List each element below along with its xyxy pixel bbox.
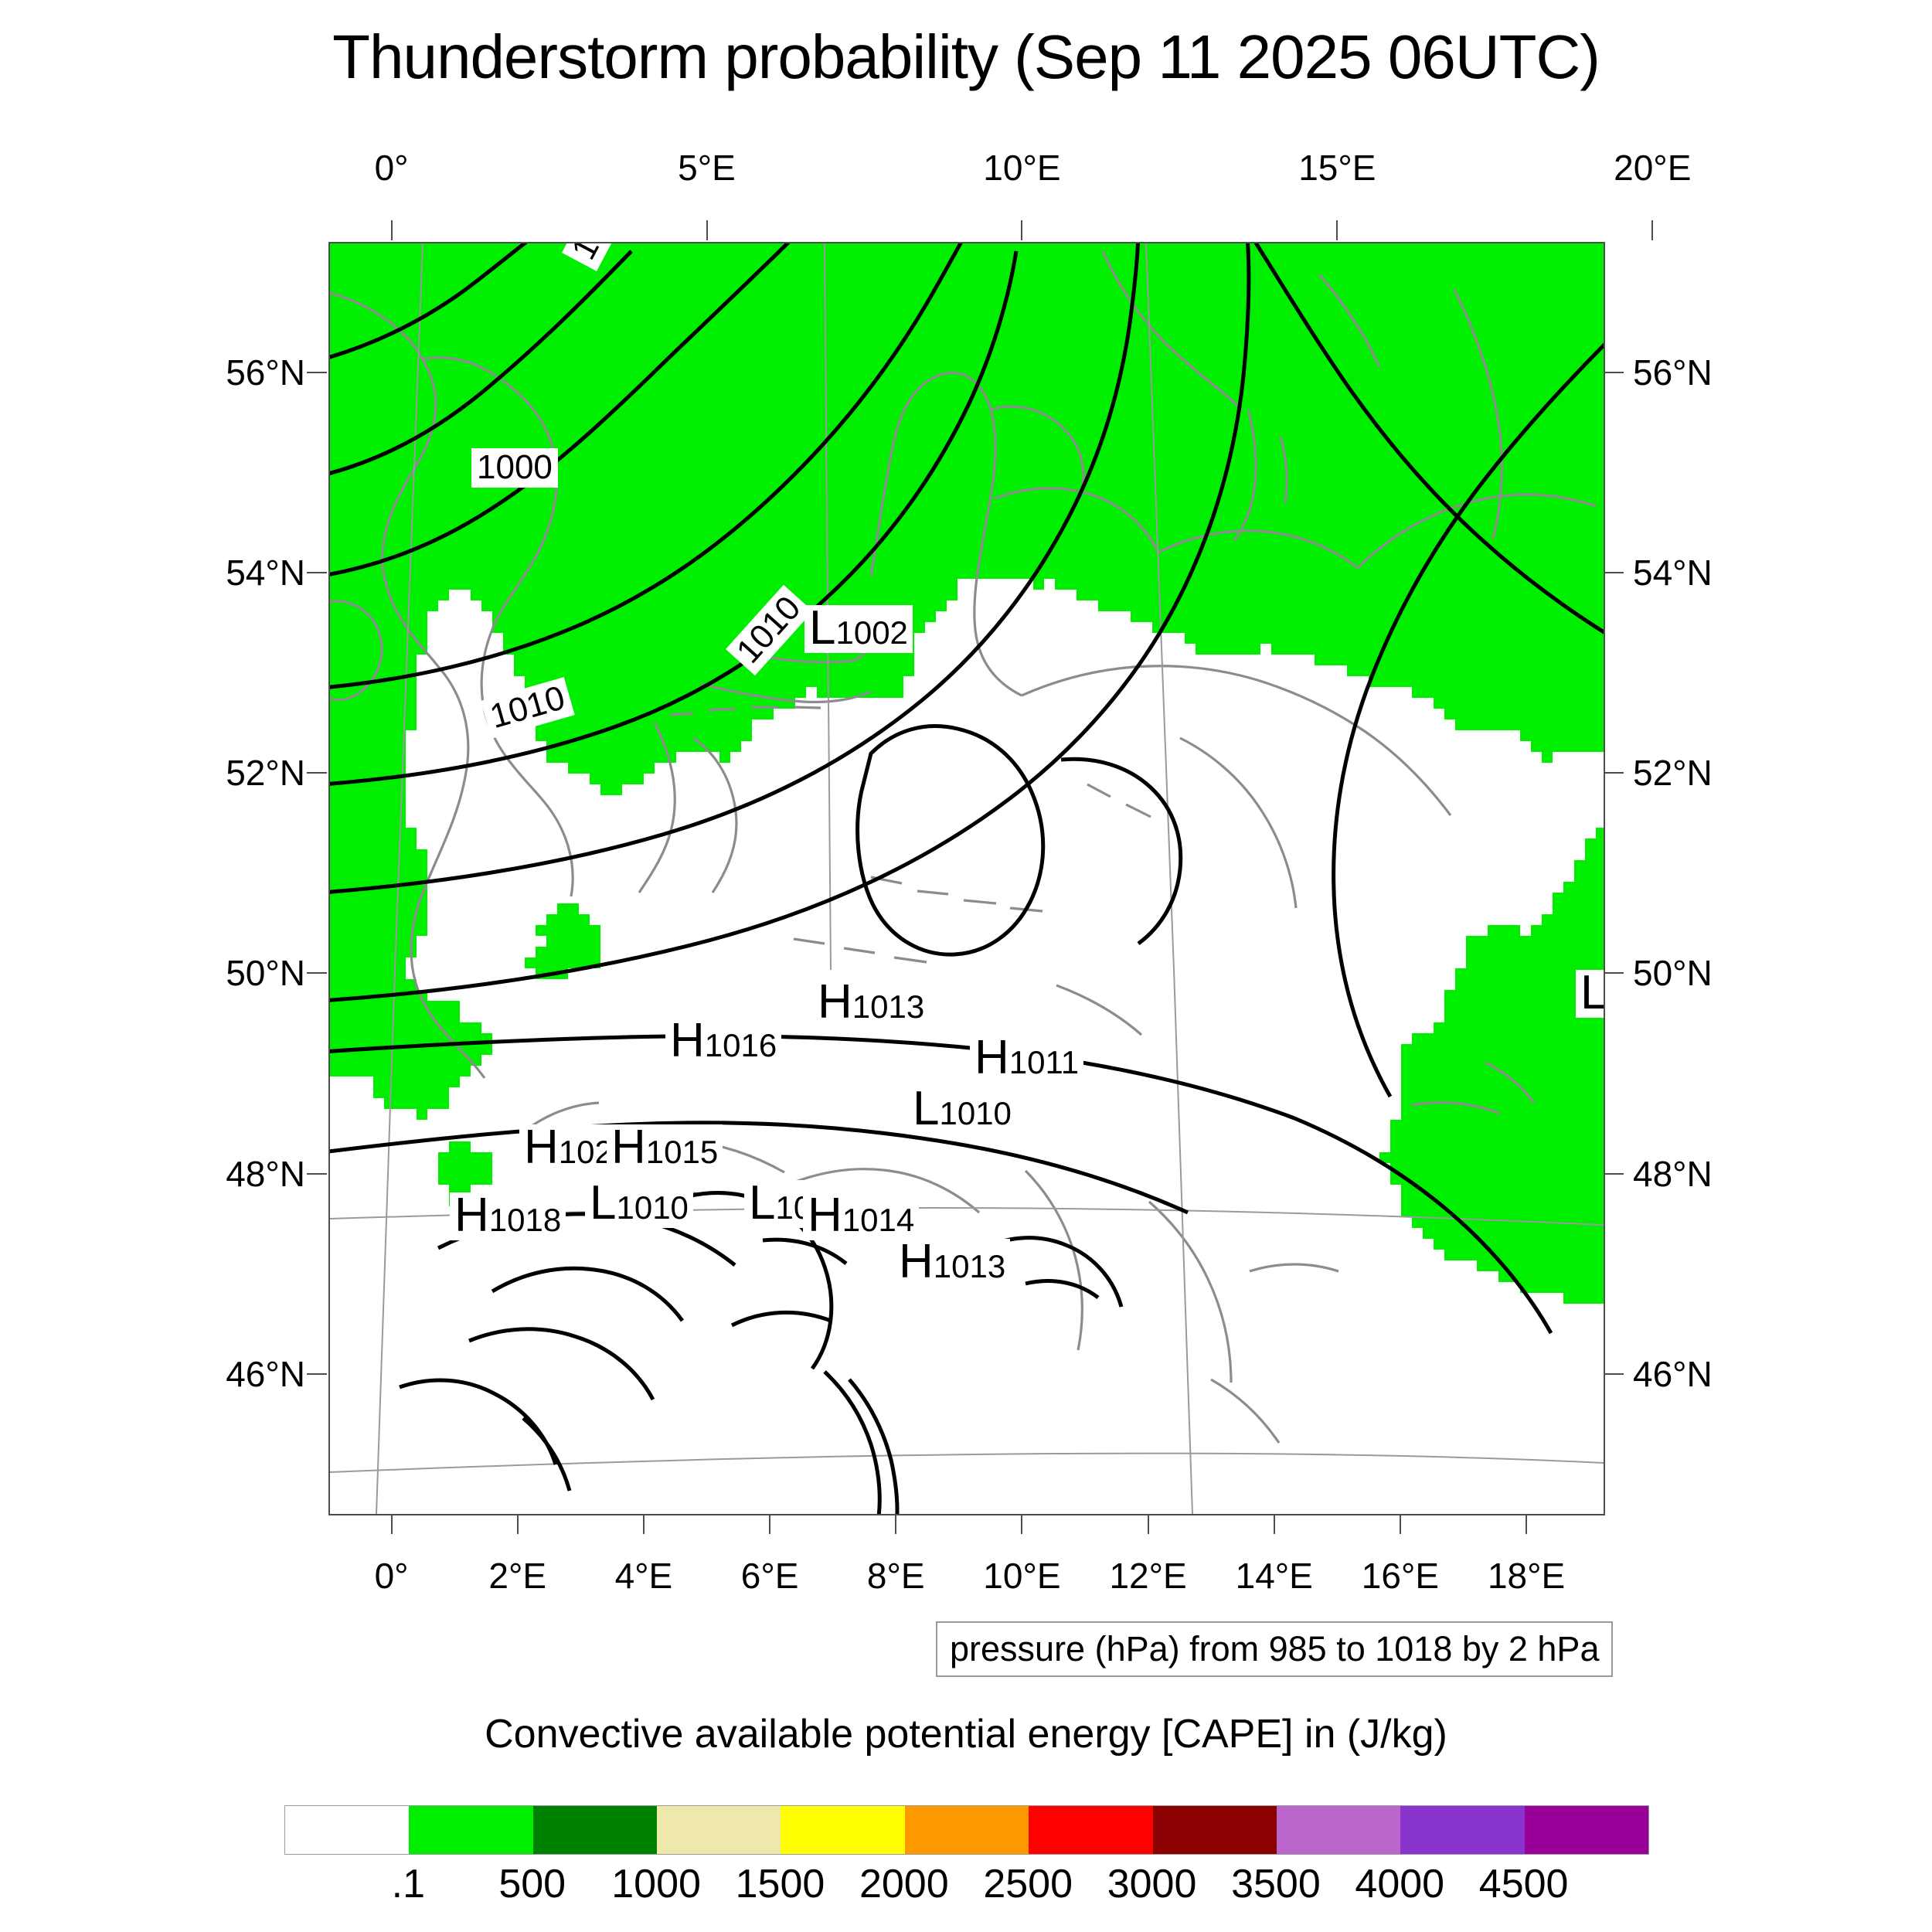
axis-tick	[1336, 220, 1338, 240]
pressure-center-L: L1010	[908, 1086, 1016, 1134]
top-axis-tick-label: 20°E	[1614, 147, 1691, 189]
colorbar-tick-label: 3000	[1107, 1861, 1197, 1907]
axis-tick	[769, 1514, 770, 1534]
isobar-label: 1000	[471, 448, 558, 488]
axis-tick	[1400, 1514, 1401, 1534]
colorbar-swatch[interactable]	[1029, 1806, 1152, 1854]
axis-tick	[517, 1514, 519, 1534]
bottom-axis-tick-label: 0°	[375, 1555, 409, 1597]
top-axis-tick-label: 10°E	[983, 147, 1060, 189]
axis-tick	[895, 1514, 896, 1534]
pressure-center-H: H1013	[813, 979, 929, 1027]
pressure-caption-box: pressure (hPa) from 985 to 1018 by 2 hPa	[936, 1621, 1613, 1677]
pressure-center-H: H1015	[607, 1124, 723, 1172]
right-axis-tick-label: 46°N	[1633, 1353, 1713, 1395]
top-axis-tick-label: 0°	[375, 147, 409, 189]
top-axis-tick-label: 15°E	[1298, 147, 1376, 189]
colorbar-tick-label: .1	[392, 1861, 425, 1907]
colorbar-tick-label: 4500	[1479, 1861, 1569, 1907]
axis-tick	[1021, 220, 1022, 240]
figure-root: Thunderstorm probability (Sep 11 2025 06…	[0, 0, 1932, 1932]
axis-tick	[307, 972, 327, 974]
axis-tick	[307, 372, 327, 373]
colorbar-swatch[interactable]	[1153, 1806, 1277, 1854]
pressure-center-H: H1018	[450, 1192, 566, 1240]
left-axis-tick-label: 46°N	[174, 1353, 305, 1395]
axis-tick	[307, 572, 327, 573]
colorbar-tick-label: 2500	[983, 1861, 1073, 1907]
colorbar-swatch[interactable]	[409, 1806, 532, 1854]
colorbar-swatch[interactable]	[781, 1806, 904, 1854]
axis-tick	[1604, 772, 1624, 774]
colorbar-tick-label: 3500	[1231, 1861, 1321, 1907]
axis-tick	[1651, 220, 1653, 240]
right-axis-tick-label: 48°N	[1633, 1153, 1713, 1195]
axis-tick	[706, 220, 708, 240]
axis-tick	[1604, 972, 1624, 974]
left-axis-tick-label: 52°N	[174, 752, 305, 794]
axis-tick	[1604, 372, 1624, 373]
axis-tick	[1526, 1514, 1527, 1534]
pressure-center-H: H1011	[970, 1035, 1083, 1083]
page-title: Thunderstorm probability (Sep 11 2025 06…	[0, 22, 1932, 93]
pressure-center-H: H1014	[803, 1192, 919, 1240]
bottom-axis-tick-label: 8°E	[867, 1555, 925, 1597]
axis-tick	[1604, 1173, 1624, 1175]
colorbar-swatch[interactable]	[1525, 1806, 1648, 1854]
right-axis-tick-label: 50°N	[1633, 952, 1713, 994]
left-axis-tick-label: 56°N	[174, 352, 305, 393]
bottom-axis-tick-label: 12°E	[1109, 1555, 1186, 1597]
bottom-axis-tick-label: 6°E	[741, 1555, 799, 1597]
axis-tick	[307, 1173, 327, 1175]
colorbar-swatch[interactable]	[1400, 1806, 1524, 1854]
bottom-axis-tick-label: 4°E	[615, 1555, 673, 1597]
right-axis-tick-label: 54°N	[1633, 552, 1713, 594]
colorbar-swatch[interactable]	[657, 1806, 781, 1854]
bottom-axis-tick-label: 10°E	[983, 1555, 1060, 1597]
pressure-center-H: H1013	[894, 1239, 1010, 1287]
pressure-center-L: L1010	[585, 1180, 693, 1228]
right-axis-tick-label: 56°N	[1633, 352, 1713, 393]
axis-tick	[391, 1514, 393, 1534]
axis-tick	[1604, 1373, 1624, 1375]
colorbar-tick-label: 2000	[859, 1861, 949, 1907]
map-plot-area[interactable]: 1000 1000 1010 1010 L1002 H1013 H1016 H1…	[328, 242, 1605, 1515]
colorbar-tick-label: 1000	[611, 1861, 701, 1907]
colorbar-swatch[interactable]	[1277, 1806, 1400, 1854]
bottom-axis-tick-label: 18°E	[1488, 1555, 1565, 1597]
axis-tick	[1274, 1514, 1275, 1534]
axis-tick	[307, 1373, 327, 1375]
right-axis-tick-label: 52°N	[1633, 752, 1713, 794]
axis-tick	[1021, 1514, 1022, 1534]
pressure-center-L-clipped: L10	[1576, 970, 1605, 1018]
pressure-center-H: H1016	[665, 1018, 781, 1066]
cape-colorbar-labels: .150010001500200025003000350040004500	[284, 1861, 1648, 1915]
left-axis-tick-label: 48°N	[174, 1153, 305, 1195]
pressure-center-L: L1002	[804, 605, 913, 653]
axis-tick	[1148, 1514, 1149, 1534]
colorbar-swatch[interactable]	[533, 1806, 657, 1854]
colorbar-swatch[interactable]	[285, 1806, 409, 1854]
cape-colorbar[interactable]	[284, 1805, 1649, 1855]
axis-tick	[1604, 572, 1624, 573]
axis-tick	[391, 220, 393, 240]
colorbar-tick-label: 1500	[736, 1861, 825, 1907]
axis-tick	[307, 772, 327, 774]
map-canvas	[330, 243, 1604, 1514]
colorbar-swatch[interactable]	[905, 1806, 1029, 1854]
colorbar-tick-label: 4000	[1355, 1861, 1444, 1907]
bottom-axis-tick-label: 2°E	[488, 1555, 546, 1597]
bottom-axis-tick-label: 16°E	[1362, 1555, 1439, 1597]
left-axis-tick-label: 50°N	[174, 952, 305, 994]
cape-caption: Convective available potential energy [C…	[0, 1711, 1932, 1757]
top-axis-tick-label: 5°E	[678, 147, 736, 189]
left-axis-tick-label: 54°N	[174, 552, 305, 594]
colorbar-tick-label: 500	[498, 1861, 566, 1907]
bottom-axis-tick-label: 14°E	[1236, 1555, 1313, 1597]
axis-tick	[643, 1514, 645, 1534]
